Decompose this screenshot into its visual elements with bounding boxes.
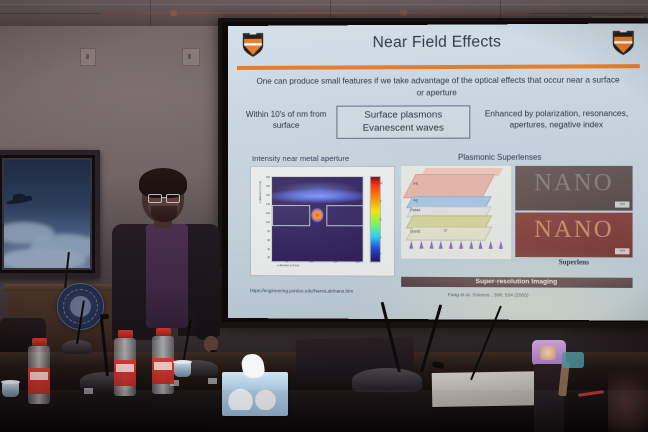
- superlens-stack-diagram: PR Ag PMMA Quartz Cr: [401, 166, 511, 259]
- layer-label-pr: PR: [413, 182, 418, 186]
- colorbar-ticks: 108642: [380, 176, 392, 261]
- bottle-label: [152, 358, 174, 384]
- teal-object: [562, 352, 584, 368]
- scale-bar: 1 µm: [615, 201, 629, 207]
- wall-outlet: [80, 48, 96, 66]
- bottle-cap: [32, 338, 47, 346]
- super-resolution-band-label: Super-resolution Imaging: [401, 277, 632, 288]
- intensity-yticks: 200180160140 1201008060 4020: [263, 176, 270, 260]
- thermos-window: [540, 346, 556, 360]
- column-left-text: Within 10's of nm from surface: [240, 106, 332, 131]
- table-reflection: [0, 390, 648, 432]
- slide-lead-text: One can produce small features if we tak…: [252, 74, 624, 99]
- super-resolution-band: Super-resolution Imaging: [401, 277, 632, 288]
- aperture-wall-right: [326, 205, 363, 226]
- bottle-cap: [156, 328, 171, 336]
- highlight-box: Surface plasmons Evanescent waves: [336, 105, 470, 139]
- slide-title: Near Field Effects: [228, 33, 648, 53]
- highlight-line-1: Surface plasmons: [341, 108, 465, 121]
- illumination-arrows-icon: [409, 241, 503, 255]
- slide-accent-bar: [237, 64, 640, 69]
- figure-caption-left: Intensity near metal aperture: [252, 154, 349, 163]
- bottle-label: [114, 360, 136, 386]
- lecture-room-photo: Near Field Effects One can produce small…: [0, 0, 648, 432]
- layer-label-pmma: PMMA: [410, 208, 420, 212]
- intensity-heatmap: [271, 176, 364, 263]
- wall-outlet: [182, 48, 200, 66]
- glasses-icon: [148, 194, 180, 202]
- figure-caption-right: Plasmonic Superlenses: [458, 153, 541, 162]
- presentation-slide: Near Field Effects One can produce small…: [228, 23, 648, 320]
- paper-cup: [174, 362, 191, 377]
- sprinkler-icon: [170, 10, 177, 16]
- water-bottle: [152, 328, 174, 394]
- ceiling-pipe: [100, 12, 530, 14]
- aperture-hotspot: [311, 208, 323, 222]
- slide-header: Near Field Effects: [228, 23, 648, 70]
- princeton-shield-logo: [612, 29, 635, 57]
- layer-label-cr: Cr: [444, 229, 448, 233]
- afm-nano-text: NANO: [515, 170, 632, 197]
- sprinkler-icon: [400, 10, 407, 16]
- aperture-wall-left: [272, 205, 310, 226]
- highlight-line-2: Evanescent waves: [341, 121, 465, 134]
- microphone-head: [100, 314, 109, 319]
- water-bottle: [114, 330, 136, 396]
- source-url-left: https://engineering.purdue.edu/NanoLab/n…: [250, 288, 353, 294]
- intensity-xlabel: x-direction (x 5 nm): [277, 264, 299, 267]
- afm-nano-text: NANO: [515, 217, 632, 245]
- bottle-body: [114, 338, 136, 396]
- beard: [151, 206, 177, 222]
- painting-canvas: [2, 158, 92, 270]
- framed-aircraft-painting: [0, 150, 100, 278]
- bottle-cap: [118, 330, 133, 338]
- column-right-text: Enhanced by polarization, resonances, ap…: [474, 105, 638, 131]
- citation-right: Fang et al. Science , 308, 534 (2005): [448, 293, 529, 298]
- intensity-ylabel: z-direction (x 5 nm): [259, 181, 262, 203]
- afm-image-control: NANO 1 µm: [515, 166, 632, 211]
- bottle-body: [152, 336, 174, 394]
- bottle-neck: [208, 378, 217, 384]
- afm-image-superlens: NANO 1 µm: [515, 212, 632, 257]
- slide-three-columns: Within 10's of nm from surface Surface p…: [240, 105, 639, 146]
- superlens-figure: PR Ag PMMA Quartz Cr NANO 1 µm NANO 1 µm…: [401, 166, 632, 280]
- layer-label-quartz: Quartz: [410, 229, 420, 233]
- microphone-base: [352, 368, 422, 392]
- intensity-figure: z-direction (x 5 nm) 200180160140 120100…: [250, 166, 395, 277]
- superlens-label: Superlens: [515, 258, 632, 267]
- layer-label-ag: Ag: [413, 198, 417, 202]
- scale-bar: 1 µm: [615, 248, 629, 254]
- shirt: [146, 224, 188, 328]
